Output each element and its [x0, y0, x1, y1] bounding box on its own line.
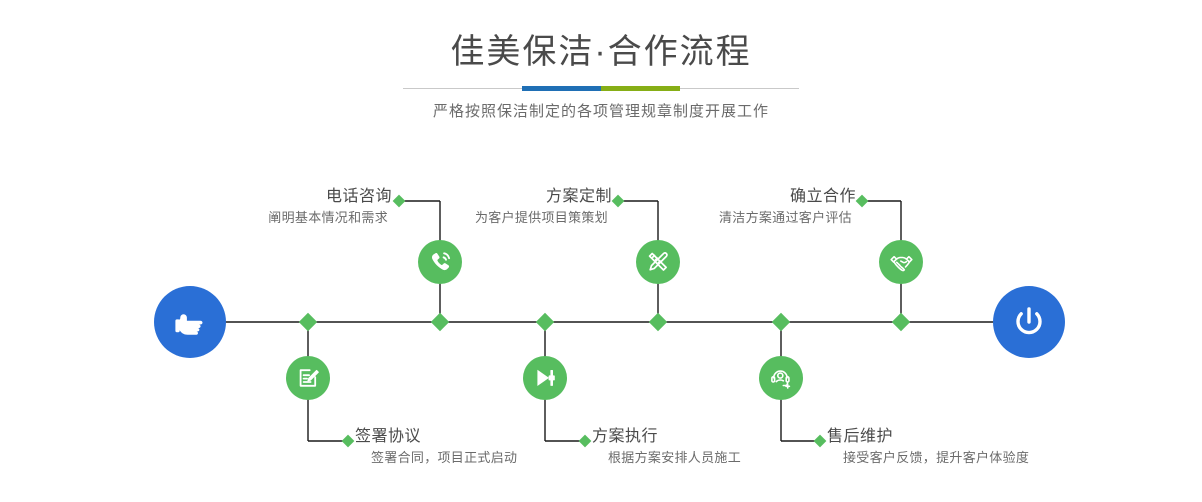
step-label-5: 确立合作 清洁方案通过客户评估	[719, 186, 856, 228]
step-label-3-title: 方案定制	[475, 186, 612, 208]
marker-axis-step-2	[299, 313, 317, 331]
step-node-4	[523, 356, 567, 400]
step-label-5-desc: 清洁方案通过客户评估	[719, 208, 856, 228]
step-label-3-desc: 为客户提供项目策策划	[475, 208, 612, 228]
phone-call-icon	[427, 249, 453, 275]
marker-axis-step-6	[772, 313, 790, 331]
power-icon	[1008, 301, 1050, 343]
marker-axis-step-4	[536, 313, 554, 331]
step-label-2-title: 签署协议	[355, 426, 517, 448]
marker-label-step-2	[342, 435, 355, 448]
timeline-start-endcap	[154, 286, 226, 358]
marker-label-step-6	[814, 435, 827, 448]
marker-label-step-4	[579, 435, 592, 448]
step-label-1-desc: 阐明基本情况和需求	[268, 208, 392, 228]
step-label-4-title: 方案执行	[592, 426, 741, 448]
play-execute-icon	[532, 365, 558, 391]
step-node-6	[759, 356, 803, 400]
timeline-end-endcap	[993, 286, 1065, 358]
pencil-ruler-icon	[645, 249, 671, 275]
document-sign-icon	[295, 365, 321, 391]
step-label-1: 电话咨询 阐明基本情况和需求	[268, 186, 392, 228]
marker-axis-step-1	[431, 313, 449, 331]
step-label-2-desc: 签署合同，项目正式启动	[355, 448, 517, 468]
step-node-5	[879, 240, 923, 284]
step-label-2: 签署协议 签署合同，项目正式启动	[355, 426, 517, 468]
handshake-icon	[888, 249, 915, 276]
customer-service-icon	[768, 365, 794, 391]
marker-axis-step-5	[892, 313, 910, 331]
marker-label-step-1	[393, 195, 406, 208]
marker-label-step-5	[856, 195, 869, 208]
step-label-3: 方案定制 为客户提供项目策策划	[475, 186, 612, 228]
step-label-6-desc: 接受客户反馈，提升客户体验度	[827, 448, 1029, 468]
step-label-6-title: 售后维护	[827, 426, 1029, 448]
step-node-1	[418, 240, 462, 284]
step-label-1-title: 电话咨询	[268, 186, 392, 208]
step-label-4-desc: 根据方案安排人员施工	[592, 448, 741, 468]
flow-diagram-page: 佳美保洁·合作流程 严格按照保洁制定的各项管理规章制度开展工作	[0, 0, 1202, 502]
step-label-5-title: 确立合作	[719, 186, 856, 208]
step-node-3	[636, 240, 680, 284]
pointing-hand-icon	[170, 302, 210, 342]
step-label-4: 方案执行 根据方案安排人员施工	[592, 426, 741, 468]
step-node-2	[286, 356, 330, 400]
marker-label-step-3	[612, 195, 625, 208]
step-label-6: 售后维护 接受客户反馈，提升客户体验度	[827, 426, 1029, 468]
marker-axis-step-3	[649, 313, 667, 331]
